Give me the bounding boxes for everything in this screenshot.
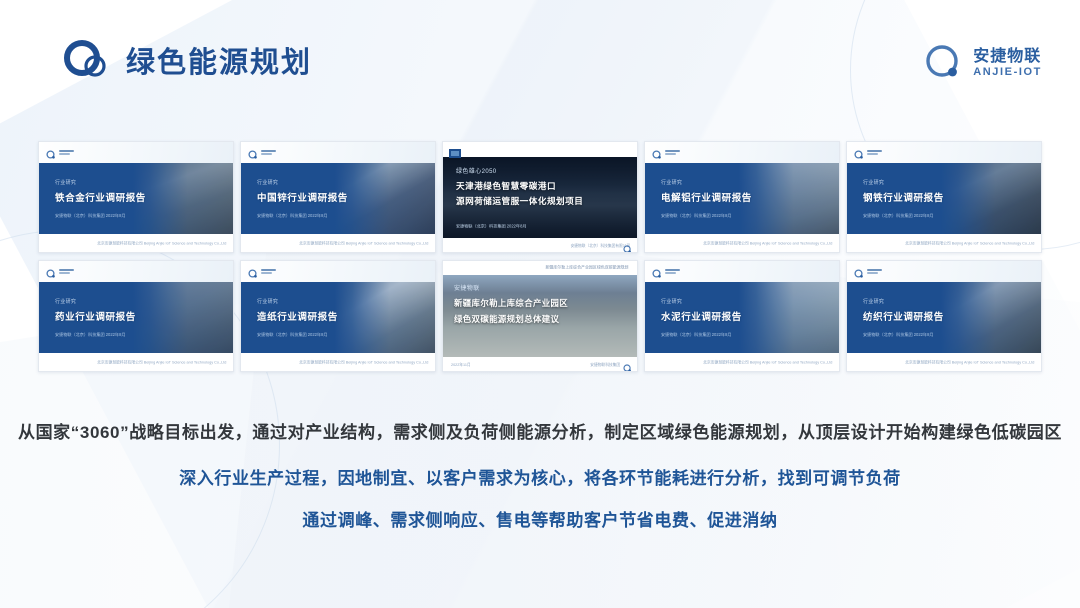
page-title: 绿色能源规划 [126,39,312,81]
card-mini-logo-icon [248,147,276,157]
report-card[interactable]: 行业研究 电解铝行业调研报告 安捷物联（北京）科技集团 2022年8月 北京安捷… [644,141,840,253]
card-mini-logo-icon [46,147,74,157]
card-footer-left: 2022年11月 [451,362,471,368]
report-card[interactable]: 行业研究 纺织行业调研报告 安捷物联（北京）科技集团 2022年8月 北京安捷慧… [846,260,1042,372]
card-mini-logo-icon [248,266,276,276]
flag-icon [449,145,461,154]
card-footer: 北京安捷慧能科技有限公司 Beijing Anjie IoT Science a… [905,240,1034,247]
card-mini-logo-icon [46,266,74,276]
caption-line-2: 深入行业生产过程，因地制宜、以客户需求为核心，将各环节能耗进行分析，找到可调节负… [0,464,1080,489]
report-card[interactable]: 行业研究 水泥行业调研报告 安捷物联（北京）科技集团 2022年8月 北京安捷慧… [644,260,840,372]
brand-name-en: ANJIE-IOT [973,66,1042,78]
card-text-block: 安捷物联 新疆库尔勒上库综合产业园区 绿色双碳能源规划总体建议 [454,283,568,327]
card-mini-logo-icon [623,241,632,250]
card-mini-logo-icon [652,266,680,276]
card-mini-logo-icon [652,147,680,157]
card-footer: 北京安捷慧能科技有限公司 Beijing Anjie IoT Science a… [703,359,832,366]
card-meta: 安捷物联（北京）科技集团 2022年8月 [456,223,527,232]
report-card[interactable]: 行业研究 造纸行业调研报告 安捷物联（北京）科技集团 2022年8月 北京安捷慧… [240,260,436,372]
card-text-block: 绿色雄心2050 天津港绿色智慧零碳港口 源网荷储运管服一体化规划项目 [456,166,583,209]
report-card[interactable]: 行业研究 药业行业调研报告 安捷物联（北京）科技集团 2022年8月 北京安捷慧… [38,260,234,372]
card-footer: 北京安捷慧能科技有限公司 Beijing Anjie IoT Science a… [299,240,428,247]
card-footer: 北京安捷慧能科技有限公司 Beijing Anjie IoT Science a… [97,359,226,366]
card-footer-right: 安捷物联科技集团 [590,362,620,368]
caption-line-1: 从国家“3060”战略目标出发，通过对产业结构，需求侧及负荷侧能源分析，制定区域… [0,418,1080,443]
caption-line-3: 通过调峰、需求侧响应、售电等帮助客户节省电费、促进消纳 [0,506,1080,531]
caption-block: 从国家“3060”战略目标出发，通过对产业结构，需求侧及负荷侧能源分析，制定区域… [0,418,1080,531]
card-footer: 北京安捷慧能科技有限公司 Beijing Anjie IoT Science a… [299,359,428,366]
card-footer: 北京安捷慧能科技有限公司 Beijing Anjie IoT Science a… [905,359,1034,366]
slide-header: 绿色能源规划 安捷物联 ANJIE-IOT [0,0,1080,120]
card-mini-logo-icon [854,147,882,157]
report-thumbnail-grid: 行业研究 铁合金行业调研报告 安捷物联（北京）科技集团 2022年8月 北京安捷… [38,141,1044,372]
brand-lockup: 安捷物联 ANJIE-IOT [922,42,1042,84]
card-footer: 安捷物联（北京）科技集团有限公司 [570,243,630,249]
card-header-bar [443,142,637,157]
card-top-note: 新疆库尔勒上库综合产业园区绿色双碳能源规划 [545,265,628,271]
title-group: 绿色能源规划 [62,36,312,84]
card-footer: 北京安捷慧能科技有限公司 Beijing Anjie IoT Science a… [703,240,832,247]
card-footer: 北京安捷慧能科技有限公司 Beijing Anjie IoT Science a… [97,240,226,247]
card-mini-logo-icon [854,266,882,276]
report-card-hero[interactable]: 绿色雄心2050 天津港绿色智慧零碳港口 源网荷储运管服一体化规划项目 安捷物联… [442,141,638,253]
report-card-park[interactable]: 新疆库尔勒上库综合产业园区绿色双碳能源规划 安捷物联 新疆库尔勒上库综合产业园区… [442,260,638,372]
card-kicker: 安捷物联 [454,283,568,292]
card-title-line2: 绿色双碳能源规划总体建议 [454,312,568,328]
anjie-ring-icon [922,42,964,84]
report-card[interactable]: 行业研究 中国锌行业调研报告 安捷物联（北京）科技集团 2022年8月 北京安捷… [240,141,436,253]
card-mini-logo-icon [623,360,632,369]
report-card[interactable]: 行业研究 钢铁行业调研报告 安捷物联（北京）科技集团 2022年8月 北京安捷慧… [846,141,1042,253]
overlapping-circles-logo-icon [62,36,110,84]
card-title-line1: 新疆库尔勒上库综合产业园区 [454,296,568,312]
report-card[interactable]: 行业研究 铁合金行业调研报告 安捷物联（北京）科技集团 2022年8月 北京安捷… [38,141,234,253]
brand-name-cn: 安捷物联 [973,48,1042,66]
card-title-line2: 源网荷储运管服一体化规划项目 [456,194,583,209]
card-kicker: 绿色雄心2050 [456,166,583,175]
brand-text: 安捷物联 ANJIE-IOT [973,48,1042,78]
card-title-line1: 天津港绿色智慧零碳港口 [456,179,583,194]
